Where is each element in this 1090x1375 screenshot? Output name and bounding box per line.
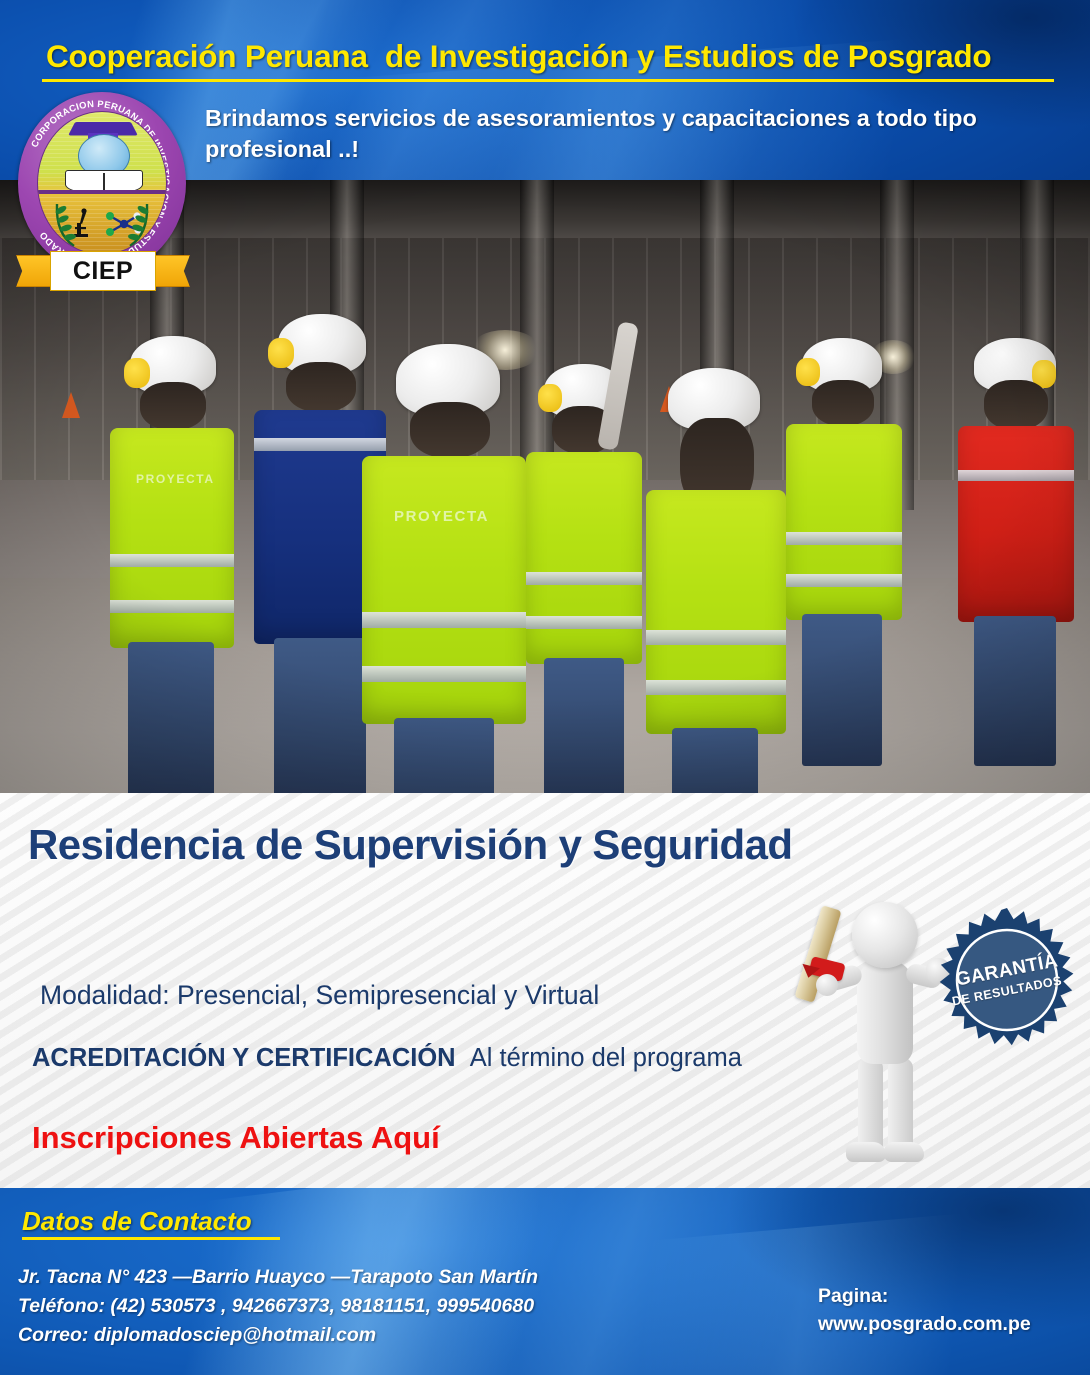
- accreditation-note: Al término del programa: [470, 1044, 742, 1072]
- mannequin-torso: [857, 960, 913, 1064]
- contact-footer: Datos de Contacto Jr. Tacna N° 423 —Barr…: [0, 1188, 1090, 1375]
- flyer-poster: Cooperación Peruana de Investigación y E…: [0, 0, 1090, 1375]
- enrollment-cta[interactable]: Inscripciones Abiertas Aquí: [32, 1120, 772, 1156]
- ciep-logo: CORPORACION PERUANA DE INVESTIGACION Y E…: [12, 92, 194, 310]
- mannequin-head: [852, 902, 918, 968]
- mannequin-hand-left: [816, 974, 838, 996]
- contact-email[interactable]: Correo: diplomadosciep@hotmail.com: [18, 1321, 658, 1350]
- mannequin-foot-left: [846, 1142, 886, 1162]
- main-content-section: Residencia de Supervisión y Seguridad Mo…: [0, 793, 1090, 1188]
- contact-heading: Datos de Contacto: [22, 1206, 252, 1237]
- website-url[interactable]: www.posgrado.com.pe: [818, 1311, 1078, 1339]
- mannequin-foot-right: [884, 1142, 924, 1162]
- contact-address: Jr. Tacna N° 423 —Barrio Huayco —Tarapot…: [18, 1263, 658, 1292]
- contact-heading-underline: [22, 1237, 280, 1240]
- organization-title: Cooperación Peruana de Investigación y E…: [46, 38, 1066, 75]
- contact-phone[interactable]: Teléfono: (42) 530573 , 942667373, 98181…: [18, 1292, 658, 1321]
- website-block: Pagina: www.posgrado.com.pe: [818, 1283, 1078, 1338]
- guarantee-seal-badge: GARANTÍA DE RESULTADOS: [933, 906, 1081, 1054]
- contact-details: Jr. Tacna N° 423 —Barrio Huayco —Tarapot…: [18, 1263, 658, 1350]
- ribbon-banner-icon: CIEP: [16, 249, 190, 295]
- website-label: Pagina:: [818, 1283, 1078, 1311]
- logo-inner-shield: [37, 111, 167, 255]
- modality-line: Modalidad: Presencial, Semipresencial y …: [40, 980, 800, 1011]
- program-title: Residencia de Supervisión y Seguridad: [28, 821, 928, 869]
- mannequin-leg-left: [858, 1058, 883, 1152]
- logo-divider-band: [38, 190, 167, 194]
- laurel-wreath-icon-left: [48, 198, 78, 248]
- mannequin-leg-right: [888, 1058, 913, 1152]
- organization-tagline: Brindamos servicios de asesoramientos y …: [205, 103, 1065, 165]
- banner-plate: CIEP: [50, 251, 156, 291]
- accreditation-line: ACREDITACIÓN Y CERTIFICACIÓN Al término …: [32, 1041, 772, 1076]
- title-underline: [42, 79, 1054, 82]
- laurel-wreath-icon-right: [126, 198, 156, 248]
- accreditation-label: ACREDITACIÓN Y CERTIFICACIÓN: [32, 1044, 456, 1072]
- logo-acronym: CIEP: [73, 257, 133, 286]
